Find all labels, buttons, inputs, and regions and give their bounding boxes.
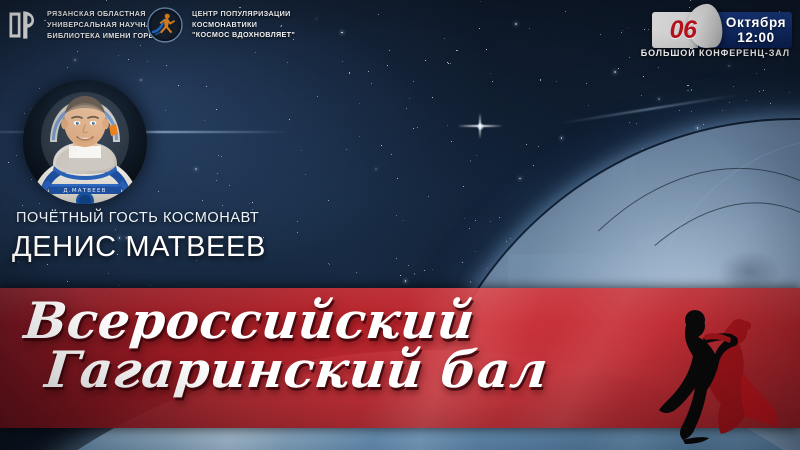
- cosmonautics-center-badge-icon: [146, 6, 184, 44]
- date-badge-details: Октября 12:00: [720, 11, 792, 49]
- center-logo-text: Центр популяризации космонавтики "Космос…: [192, 9, 295, 42]
- event-title-line-2: Гагаринский бал: [17, 345, 622, 394]
- event-poster: Рязанская областная универсальная научна…: [0, 0, 800, 450]
- date-badge-month: Октября: [726, 16, 786, 30]
- center-logo-block[interactable]: Центр популяризации космонавтики "Космос…: [146, 6, 295, 44]
- venue-label: Большой конференц-зал: [641, 48, 790, 58]
- cosmonaut-portrait-image: Д.МАТВЕЕВ: [23, 80, 147, 204]
- event-title: Всероссийский Гагаринский бал: [17, 296, 627, 394]
- header-bar: Рязанская областная универсальная научна…: [0, 0, 800, 70]
- center-text-line-3: "Космос вдохновляет": [192, 30, 295, 41]
- dancers-icon: [645, 292, 790, 444]
- date-badge[interactable]: 06 Октября 12:00: [642, 8, 792, 48]
- guest-role-label: Почётный гость космонавт: [16, 210, 259, 226]
- dancing-couple-silhouette: [645, 292, 790, 444]
- guest-name-label: Денис Матвеев: [12, 231, 266, 264]
- open-book-logo-icon: [8, 9, 38, 41]
- cosmonaut-portrait: Д.МАТВЕЕВ: [23, 80, 147, 204]
- center-text-line-2: космонавтики: [192, 20, 295, 31]
- date-badge-time: 12:00: [737, 31, 775, 45]
- center-text-line-1: Центр популяризации: [192, 9, 295, 20]
- event-title-line-1: Всероссийский: [22, 296, 627, 345]
- date-badge-day: 06: [654, 12, 712, 48]
